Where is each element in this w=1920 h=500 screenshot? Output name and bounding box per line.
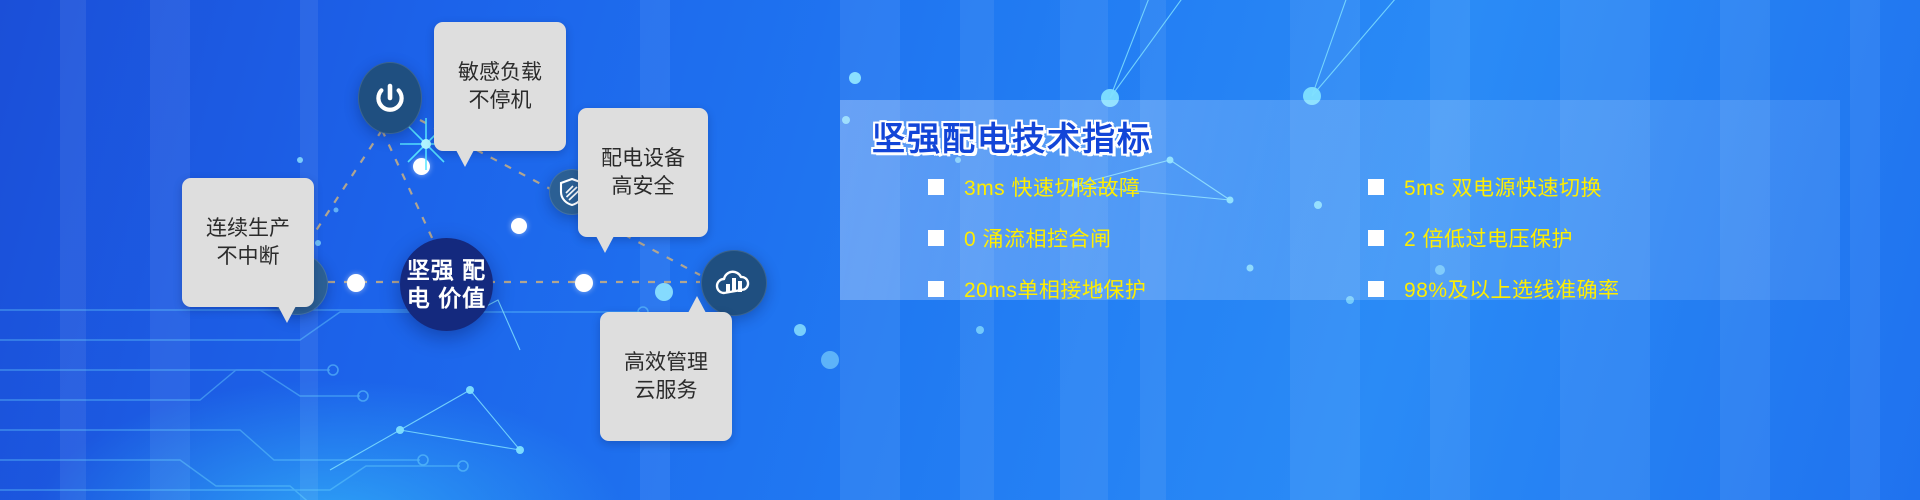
promo-banner: 坚强 配电 价值 敏感负载 不停机 配电设备 高安全 连续生产 不中断 高效管理…: [0, 0, 1920, 500]
bullet-square-icon: [928, 281, 944, 297]
spec-item-label: 2 倍低过电压保护: [1404, 223, 1573, 253]
bubble-tail: [596, 236, 614, 253]
spec-item-label: 5ms 双电源快速切换: [1404, 172, 1602, 202]
bubble-tail: [688, 296, 706, 313]
bullet-square-icon: [1368, 230, 1384, 246]
spec-panel: 坚强配电技术指标 3ms 快速切除故障 5ms 双电源快速切换 0 涌流相控合闸…: [840, 100, 1840, 300]
bullet-square-icon: [1368, 281, 1384, 297]
power-icon: [373, 81, 407, 115]
bullet-square-icon: [928, 179, 944, 195]
spec-item-label: 20ms单相接地保护: [964, 274, 1146, 304]
center-node: 坚强 配电 价值: [400, 238, 493, 331]
spec-item: 98%及以上选线准确率: [1368, 274, 1808, 304]
bullet-square-icon: [928, 230, 944, 246]
spec-item: 5ms 双电源快速切换: [1368, 172, 1808, 202]
bubble-sensitive-load: 敏感负载 不停机: [434, 22, 566, 151]
bubble-continuous-production: 连续生产 不中断: [182, 178, 314, 307]
bubble-text: 高效管理 云服务: [624, 351, 708, 401]
bubble-cloud-service: 高效管理 云服务: [600, 312, 732, 441]
center-label: 坚强 配电 价值: [400, 257, 493, 311]
spec-item-label: 98%及以上选线准确率: [1404, 274, 1620, 304]
spec-item: 0 涌流相控合闸: [928, 223, 1368, 253]
cloud-chart-icon: [714, 267, 754, 299]
bubble-tail: [456, 150, 474, 167]
bubble-tail: [278, 306, 296, 323]
node-power[interactable]: [358, 62, 422, 134]
spec-panel-title: 坚强配电技术指标: [872, 112, 1152, 160]
value-diagram: 坚强 配电 价值 敏感负载 不停机 配电设备 高安全 连续生产 不中断 高效管理…: [0, 0, 860, 500]
node-cloud-chart[interactable]: [701, 250, 767, 316]
spec-item-label: 3ms 快速切除故障: [964, 172, 1141, 202]
connector-dot: [347, 274, 365, 292]
bubble-text: 配电设备 高安全: [601, 147, 685, 197]
connector-dot: [575, 274, 593, 292]
bubble-distribution-safety: 配电设备 高安全: [578, 108, 708, 237]
bubble-text: 敏感负载 不停机: [458, 61, 542, 111]
spec-item-label: 0 涌流相控合闸: [964, 223, 1112, 253]
spec-item: 2 倍低过电压保护: [1368, 223, 1808, 253]
spec-list: 3ms 快速切除故障 5ms 双电源快速切换 0 涌流相控合闸 2 倍低过电压保…: [928, 172, 1808, 304]
bullet-square-icon: [1368, 179, 1384, 195]
connector-dot: [511, 218, 527, 234]
spec-item: 20ms单相接地保护: [928, 274, 1368, 304]
spec-item: 3ms 快速切除故障: [928, 172, 1368, 202]
bubble-text: 连续生产 不中断: [206, 217, 290, 267]
